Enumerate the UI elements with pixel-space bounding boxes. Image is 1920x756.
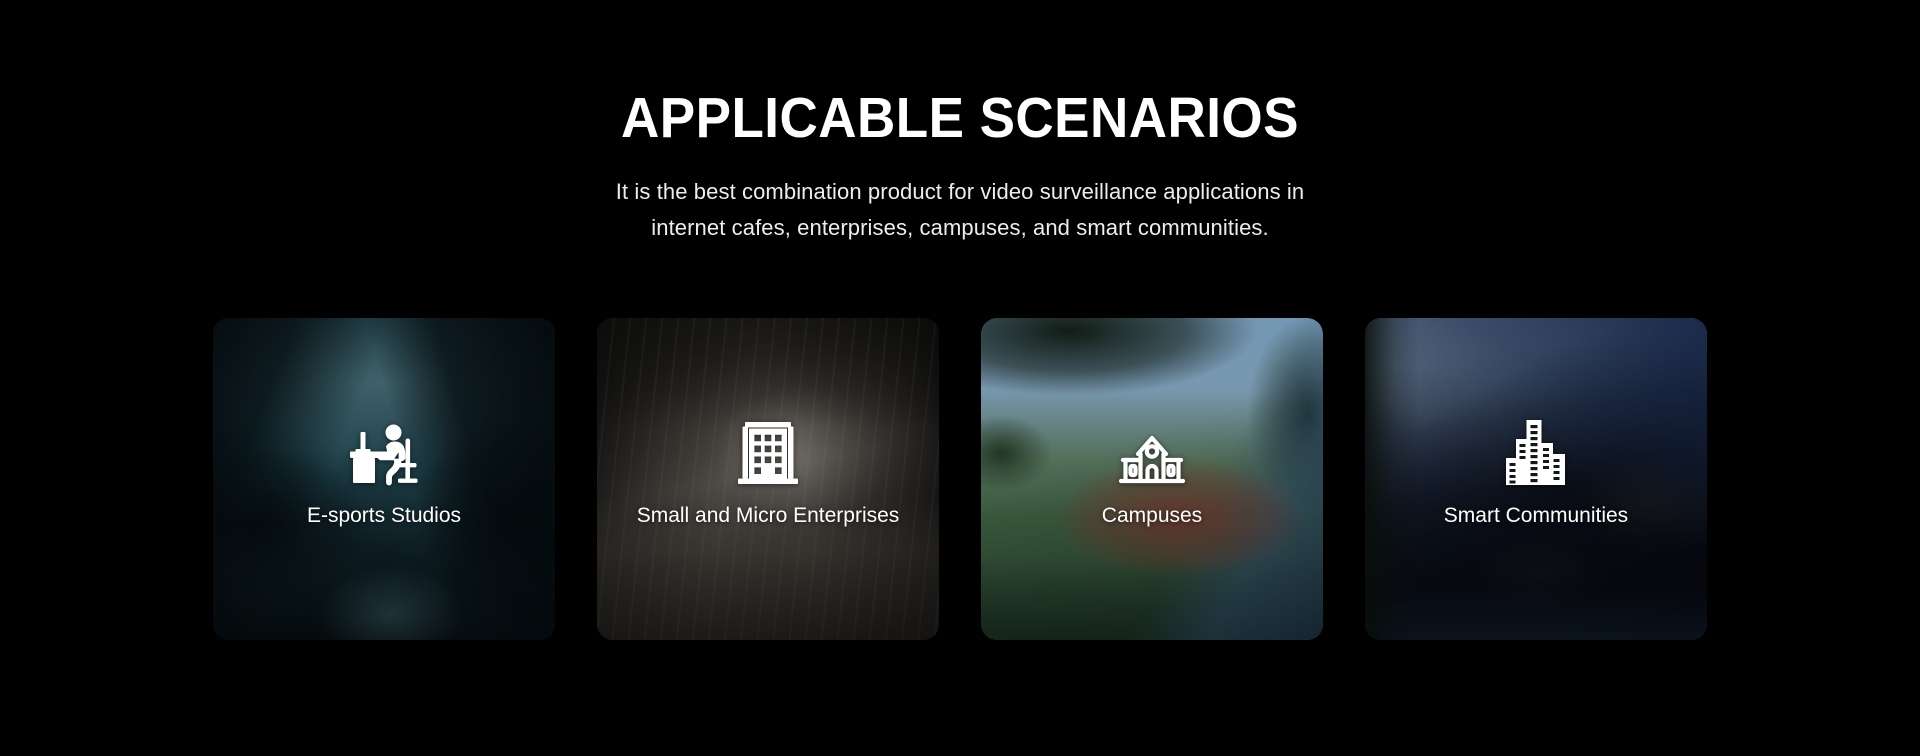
school-building-icon [1113, 414, 1191, 492]
card-content: Small and Micro Enterprises [597, 414, 939, 528]
scenario-card-smart-communities[interactable]: Smart Communities [1365, 318, 1707, 640]
page-subtitle-line-1: It is the best combination product for v… [0, 174, 1920, 210]
page-title: APPLICABLE SCENARIOS [67, 86, 1853, 150]
scenario-card-label: E-sports Studios [307, 503, 461, 528]
page-subtitle-line-2: internet cafes, enterprises, campuses, a… [0, 210, 1920, 246]
scenario-card-e-sports-studios[interactable]: E-sports Studios [213, 318, 555, 640]
card-content: Campuses [981, 414, 1323, 528]
scenario-card-label: Campuses [1102, 503, 1202, 528]
city-skyscrapers-icon [1497, 414, 1575, 492]
heading-block: APPLICABLE SCENARIOS It is the best comb… [0, 86, 1920, 246]
scenario-cards-row: E-sports Studios [213, 318, 1708, 640]
scenario-card-small-and-micro-enterprises[interactable]: Small and Micro Enterprises [597, 318, 939, 640]
scenario-card-label: Small and Micro Enterprises [637, 503, 900, 528]
scenario-card-label: Smart Communities [1444, 503, 1628, 528]
page-subtitle: It is the best combination product for v… [0, 174, 1920, 246]
card-content: Smart Communities [1365, 414, 1707, 528]
card-content: E-sports Studios [213, 414, 555, 528]
applicable-scenarios-section: APPLICABLE SCENARIOS It is the best comb… [0, 0, 1920, 756]
office-building-icon [729, 414, 807, 492]
scenario-card-campuses[interactable]: Campuses [981, 318, 1323, 640]
person-at-desk-icon [345, 414, 423, 492]
